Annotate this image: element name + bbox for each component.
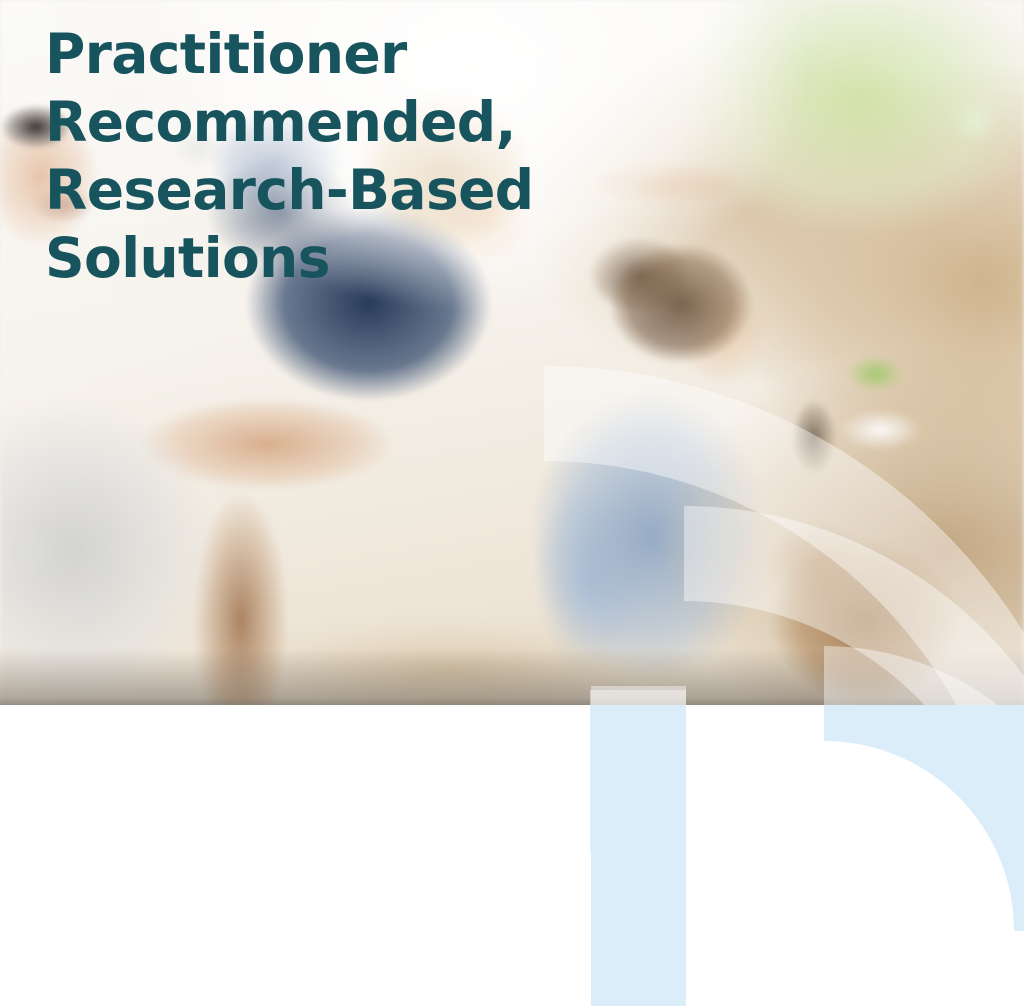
page-title: Practitioner Recommended, Research-Based…	[45, 20, 534, 292]
poster-root: Practitioner Recommended, Research-Based…	[0, 0, 1024, 1006]
headline-panel	[0, 705, 1024, 1006]
